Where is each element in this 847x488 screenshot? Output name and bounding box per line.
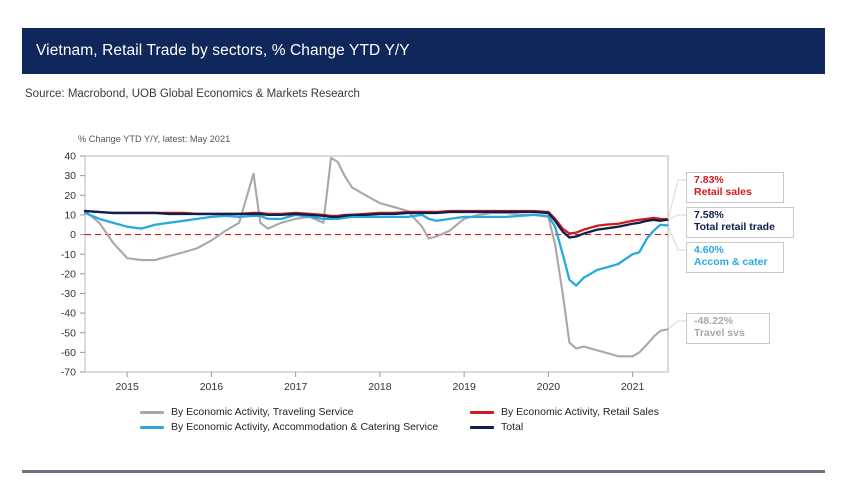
annotation-value: 4.60% — [694, 245, 777, 257]
x-axis-tick-label: 2017 — [284, 381, 308, 393]
annotation-leader-line — [668, 226, 686, 250]
annotation-value: 7.58% — [694, 210, 787, 222]
annotation-label: Travel svs — [694, 328, 763, 340]
legend-swatch — [140, 411, 164, 414]
legend-swatch — [470, 426, 494, 429]
y-axis-tick-label: -60 — [61, 347, 76, 359]
y-axis-tick-label: -50 — [61, 327, 76, 339]
annotation-retail-sales: 7.83% Retail sales — [686, 172, 784, 203]
legend-row-1: By Economic Activity, Traveling Service … — [0, 406, 847, 418]
footer-divider — [22, 470, 825, 473]
header-band: Vietnam, Retail Trade by sectors, % Chan… — [22, 28, 825, 74]
legend-label: By Economic Activity, Accommodation & Ca… — [171, 421, 438, 433]
y-axis-tick-label: 20 — [64, 190, 76, 202]
y-axis-tick-label: -30 — [61, 288, 76, 300]
y-axis-tick-label: -10 — [61, 249, 76, 261]
y-axis-tick-label: 10 — [64, 210, 76, 222]
page-title: Vietnam, Retail Trade by sectors, % Chan… — [22, 42, 410, 60]
legend-item-accommodation-catering[interactable]: By Economic Activity, Accommodation & Ca… — [140, 421, 470, 433]
annotation-accom-cater: 4.60% Accom & cater — [686, 242, 784, 273]
annotation-label: Total retail trade — [694, 222, 787, 234]
legend-swatch — [470, 411, 494, 414]
chart-subtitle: % Change YTD Y/Y, latest: May 2021 — [78, 134, 230, 144]
legend-item-retail-sales[interactable]: By Economic Activity, Retail Sales — [470, 406, 659, 418]
x-axis-tick-label: 2015 — [115, 381, 139, 393]
x-axis-tick-label: 2019 — [452, 381, 476, 393]
annotation-leader-line — [668, 215, 686, 220]
plot-frame — [85, 156, 668, 372]
annotation-leader-line — [668, 321, 686, 329]
annotation-total-retail-trade: 7.58% Total retail trade — [686, 207, 794, 238]
annotation-label: Accom & cater — [694, 257, 777, 269]
y-axis-tick-label: 40 — [64, 151, 76, 163]
y-axis-tick-label: -70 — [61, 367, 76, 379]
annotation-label: Retail sales — [694, 187, 777, 199]
chart-legend: By Economic Activity, Traveling Service … — [0, 406, 847, 436]
annotation-value: 7.83% — [694, 175, 777, 187]
annotation-leader-line — [668, 180, 686, 219]
y-axis-tick-label: -40 — [61, 308, 76, 320]
y-axis-tick-label: 0 — [70, 229, 76, 241]
x-axis-tick-label: 2018 — [368, 381, 392, 393]
legend-item-total[interactable]: Total — [470, 421, 523, 433]
legend-swatch — [140, 426, 164, 429]
x-axis-tick-label: 2021 — [621, 381, 645, 393]
annotation-value: -48.22% — [694, 316, 763, 328]
source-text: Source: Macrobond, UOB Global Economics … — [25, 88, 360, 100]
legend-row-2: By Economic Activity, Accommodation & Ca… — [0, 421, 847, 433]
x-axis-tick-label: 2016 — [200, 381, 224, 393]
y-axis-tick-label: -20 — [61, 268, 76, 280]
y-axis-tick-label: 30 — [64, 170, 76, 182]
x-axis-tick-label: 2020 — [537, 381, 561, 393]
annotation-travel-svs: -48.22% Travel svs — [686, 313, 770, 344]
legend-label: Total — [501, 421, 523, 433]
legend-label: By Economic Activity, Traveling Service — [171, 406, 353, 418]
legend-label: By Economic Activity, Retail Sales — [501, 406, 659, 418]
legend-item-traveling-service[interactable]: By Economic Activity, Traveling Service — [140, 406, 470, 418]
